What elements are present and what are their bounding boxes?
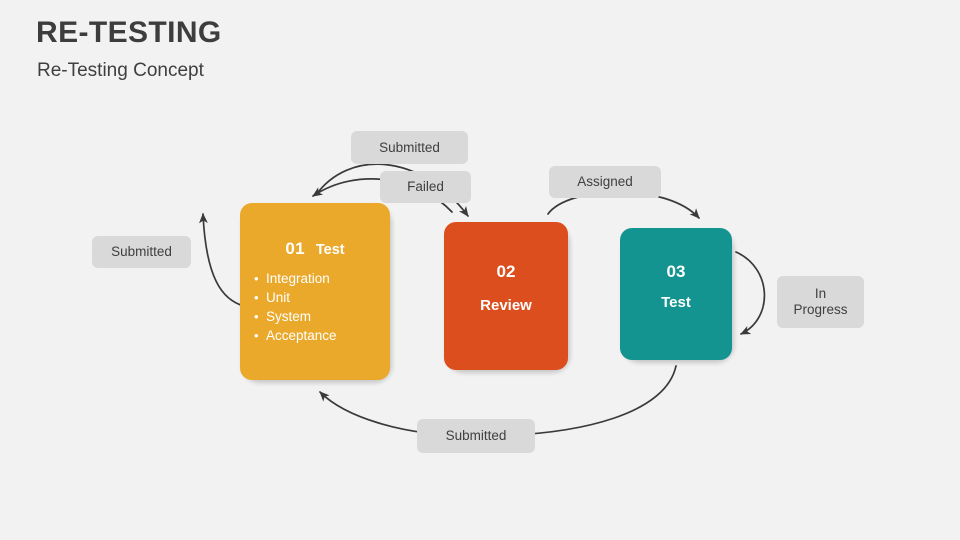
stage-box-02-review[interactable]: 02 Review xyxy=(444,222,568,370)
stage-box-02-inner: 02 Review xyxy=(444,222,568,370)
edge-label-failed[interactable]: Failed xyxy=(380,171,471,203)
edge-label-submitted-entry[interactable]: Submitted xyxy=(92,236,191,268)
stage-03-number: 03 xyxy=(620,262,732,282)
list-item: •System xyxy=(254,307,337,326)
stage-box-03-inner: 03 Test xyxy=(620,228,732,360)
edge-label-assigned[interactable]: Assigned xyxy=(549,166,661,198)
bullet-icon: • xyxy=(254,307,266,326)
bullet-icon: • xyxy=(254,269,266,288)
list-item-label: Integration xyxy=(266,271,330,286)
stage-02-number: 02 xyxy=(444,262,568,282)
stage-01-item-list: •Integration •Unit •System •Acceptance xyxy=(254,269,337,345)
stage-01-name: Test xyxy=(316,242,345,258)
list-item: •Integration xyxy=(254,269,337,288)
bullet-icon: • xyxy=(254,326,266,345)
edge-label-submitted-bottom[interactable]: Submitted xyxy=(417,419,535,453)
page-title: RE-TESTING xyxy=(36,16,222,50)
list-item-label: Acceptance xyxy=(266,328,337,343)
stage-01-heading: 01Test xyxy=(240,239,390,259)
edge-label-submitted-top[interactable]: Submitted xyxy=(351,131,468,164)
slide-canvas: RE-TESTING Re-Testing Concept 01Te xyxy=(0,0,960,540)
stage-02-name: Review xyxy=(444,297,568,314)
list-item: •Acceptance xyxy=(254,326,337,345)
bullet-icon: • xyxy=(254,288,266,307)
list-item-label: System xyxy=(266,309,311,324)
list-item: •Unit xyxy=(254,288,337,307)
list-item-label: Unit xyxy=(266,290,290,305)
stage-01-number: 01 xyxy=(285,239,305,258)
stage-box-01-inner: 01Test •Integration •Unit •System •Accep… xyxy=(240,203,390,380)
edge-label-in-progress-line2: Progress xyxy=(793,302,847,318)
page-subtitle: Re-Testing Concept xyxy=(37,60,204,82)
edge-entry-submitted xyxy=(203,214,244,306)
edge-label-in-progress[interactable]: In Progress xyxy=(777,276,864,328)
stage-box-01-test[interactable]: 01Test •Integration •Unit •System •Accep… xyxy=(240,203,390,380)
stage-03-name: Test xyxy=(620,294,732,311)
edge-in-progress xyxy=(736,252,764,334)
stage-box-03-test[interactable]: 03 Test xyxy=(620,228,732,360)
edge-label-in-progress-line1: In xyxy=(793,286,847,302)
